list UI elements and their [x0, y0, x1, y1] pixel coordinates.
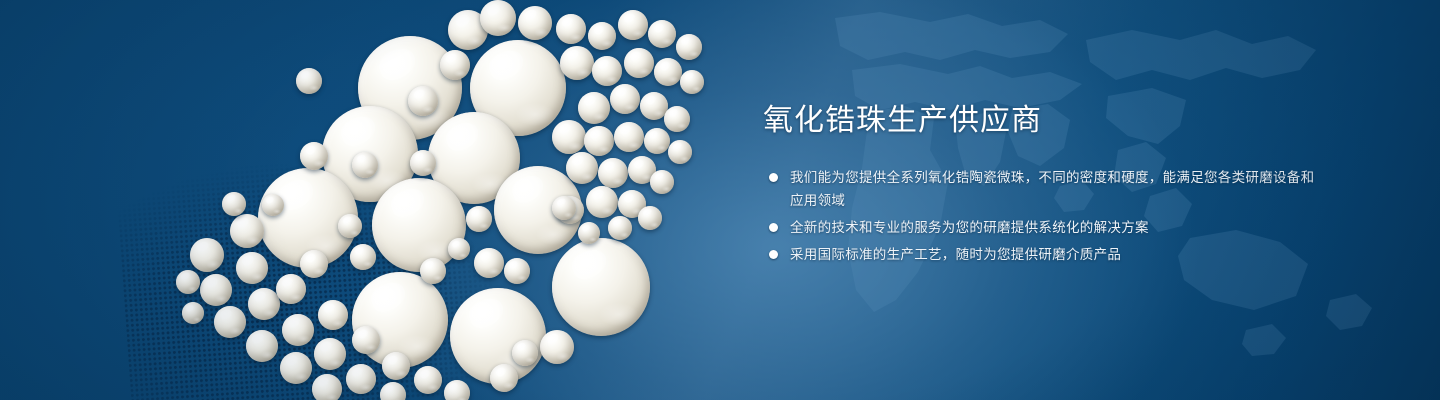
bullet-dot-icon — [769, 223, 778, 232]
list-item: 采用国际标准的生产工艺，随时为您提供研磨介质产品 — [763, 243, 1323, 266]
bullet-dot-icon — [769, 173, 778, 182]
feature-bullet-list: 我们能为您提供全系列氧化锆陶瓷微珠，不同的密度和硬度，能满足您各类研磨设备和应用… — [763, 166, 1323, 266]
bullet-text: 采用国际标准的生产工艺，随时为您提供研磨介质产品 — [790, 247, 1121, 262]
page-title: 氧化锆珠生产供应商 — [763, 104, 1323, 138]
list-item: 全新的技术和专业的服务为您的研磨提供系统化的解决方案 — [763, 216, 1323, 239]
bullet-text: 全新的技术和专业的服务为您的研磨提供系统化的解决方案 — [790, 220, 1149, 235]
list-item: 我们能为您提供全系列氧化锆陶瓷微珠，不同的密度和硬度，能满足您各类研磨设备和应用… — [763, 166, 1323, 212]
bullet-dot-icon — [769, 250, 778, 259]
hero-banner: 氧化锆珠生产供应商 我们能为您提供全系列氧化锆陶瓷微珠，不同的密度和硬度，能满足… — [0, 0, 1440, 400]
bullet-text: 我们能为您提供全系列氧化锆陶瓷微珠，不同的密度和硬度，能满足您各类研磨设备和应用… — [790, 170, 1314, 208]
banner-copy-block: 氧化锆珠生产供应商 我们能为您提供全系列氧化锆陶瓷微珠，不同的密度和硬度，能满足… — [763, 104, 1323, 266]
